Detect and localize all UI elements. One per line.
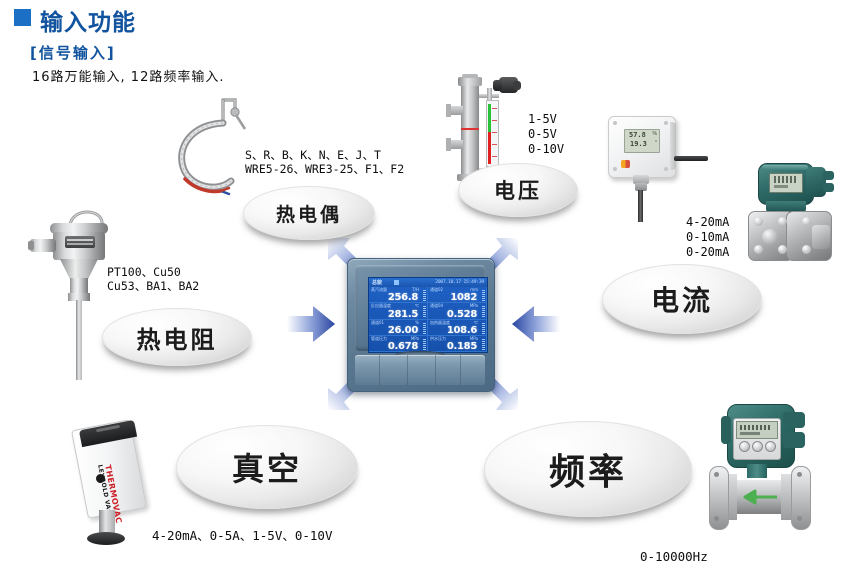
channel-cell: 供水压力 MPa 0.185 — [428, 336, 487, 352]
recorder-bezel: 总貌 2007.10.17 15:49:39 蒸汽流量 T/H 256.8 通道… — [355, 265, 485, 351]
spec-voltage: 1-5V 0-5V 0-10V — [528, 112, 564, 157]
section-marker-icon — [14, 9, 31, 26]
channel-value: 0.528 — [447, 309, 477, 320]
arrow-current-to-recorder — [512, 305, 560, 343]
spec-vacuum: 4-20mA、0-5A、1-5V、0-10V — [152, 529, 333, 543]
category-label-thermocouple-text: 热电偶 — [276, 200, 342, 227]
channel-value: 0.185 — [447, 341, 477, 352]
channel-barmeter — [482, 339, 485, 350]
channel-barmeter — [482, 323, 485, 334]
channel-barmeter — [482, 306, 485, 317]
section-subtitle: [信号输入] — [30, 42, 116, 63]
screen-channel-grid: 蒸汽流量 T/H 256.8 通道02 mm 1082 反应器温度 ℃ — [369, 287, 487, 352]
channel-unit: ℃ — [474, 320, 479, 325]
channel-cell: 通道02 mm 1082 — [428, 287, 487, 303]
category-label-frequency-text: 频率 — [549, 443, 627, 495]
wall-humidity-temperature-transmitter: 57.8 19.3 % ° — [604, 112, 709, 222]
humidity-reading: 57.8 — [629, 131, 646, 139]
category-label-rtd-text: 热电阻 — [137, 320, 218, 355]
paperless-recorder[interactable]: 总貌 2007.10.17 15:49:39 蒸汽流量 T/H 256.8 通道… — [347, 258, 495, 392]
spec-thermocouple: S、R、B、K、N、E、J、T WRE5-26、WRE3-25、F1、F2 — [245, 148, 404, 176]
screen-titlebar: 总貌 2007.10.17 15:49:39 — [369, 278, 487, 287]
channel-unit: MPa — [470, 303, 478, 308]
category-label-thermocouple[interactable]: 热电偶 — [243, 186, 375, 240]
diagram-canvas: 输入功能 [信号输入] 16路万能输入, 12路频率输入. — [0, 0, 847, 569]
channel-value: 26.00 — [388, 325, 418, 336]
arrow-rtd-to-recorder — [287, 305, 335, 343]
channel-tag: 供水压力 — [430, 336, 446, 342]
temperature-reading: 19.3 — [630, 140, 647, 148]
channel-barmeter — [482, 290, 485, 301]
channel-tag: 通道02 — [430, 287, 443, 293]
screen-status-icon — [394, 280, 399, 285]
page-title: 输入功能 — [40, 3, 136, 37]
channel-tag: 通道01 — [371, 320, 384, 326]
screen-datetime: 2007.10.17 15:49:39 — [435, 280, 484, 285]
channel-tag: 通道04 — [430, 303, 443, 309]
recorder-screen[interactable]: 总貌 2007.10.17 15:49:39 蒸汽流量 T/H 256.8 通道… — [368, 277, 488, 353]
channel-value: 108.6 — [447, 325, 477, 336]
category-label-frequency[interactable]: 频率 — [484, 421, 692, 517]
channel-cell: 蒸汽流量 T/H 256.8 — [369, 287, 428, 303]
channel-unit: MPa — [470, 336, 478, 341]
recorder-front-panel[interactable] — [355, 355, 485, 385]
spec-rtd: PT100、Cu50 Cu53、BA1、BA2 — [107, 265, 199, 293]
channel-cell: 管道压力 MPa 0.678 — [369, 336, 428, 352]
channel-unit: % — [415, 320, 419, 325]
channel-barmeter — [423, 323, 426, 334]
channel-unit: MPa — [411, 336, 419, 341]
channel-cell: 反应器温度 ℃ 281.5 — [369, 303, 428, 319]
category-label-vacuum[interactable]: 真空 — [176, 425, 358, 509]
spec-frequency: 0-10000Hz — [640, 550, 708, 564]
spec-current: 4-20mA 0-10mA 0-20mA — [686, 215, 729, 260]
category-label-current-text: 电流 — [651, 279, 713, 319]
channel-barmeter — [423, 290, 426, 301]
channel-cell: 加热器温度 ℃ 108.6 — [428, 320, 487, 336]
category-label-voltage[interactable]: 电压 — [458, 163, 578, 217]
electromagnetic-flowmeter — [695, 402, 845, 542]
channel-barmeter — [423, 306, 426, 317]
pressure-transmitter — [740, 163, 846, 285]
channel-value: 281.5 — [388, 309, 418, 320]
category-label-vacuum-text: 真空 — [232, 444, 302, 490]
channel-cell: 通道04 MPa 0.528 — [428, 303, 487, 319]
channel-tag: 蒸汽流量 — [371, 287, 387, 293]
section-description: 16路万能输入, 12路频率输入. — [32, 66, 224, 85]
channel-value: 1082 — [450, 292, 477, 303]
channel-barmeter — [423, 339, 426, 350]
channel-tag: 管道压力 — [371, 336, 387, 342]
channel-value: 256.8 — [388, 292, 418, 303]
category-label-current[interactable]: 电流 — [602, 264, 762, 334]
category-label-voltage-text: 电压 — [494, 175, 542, 205]
channel-unit: ℃ — [415, 303, 420, 308]
channel-cell: 通道01 % 26.00 — [369, 320, 428, 336]
category-label-rtd[interactable]: 热电阻 — [102, 308, 252, 366]
screen-title: 总貌 — [372, 279, 382, 286]
